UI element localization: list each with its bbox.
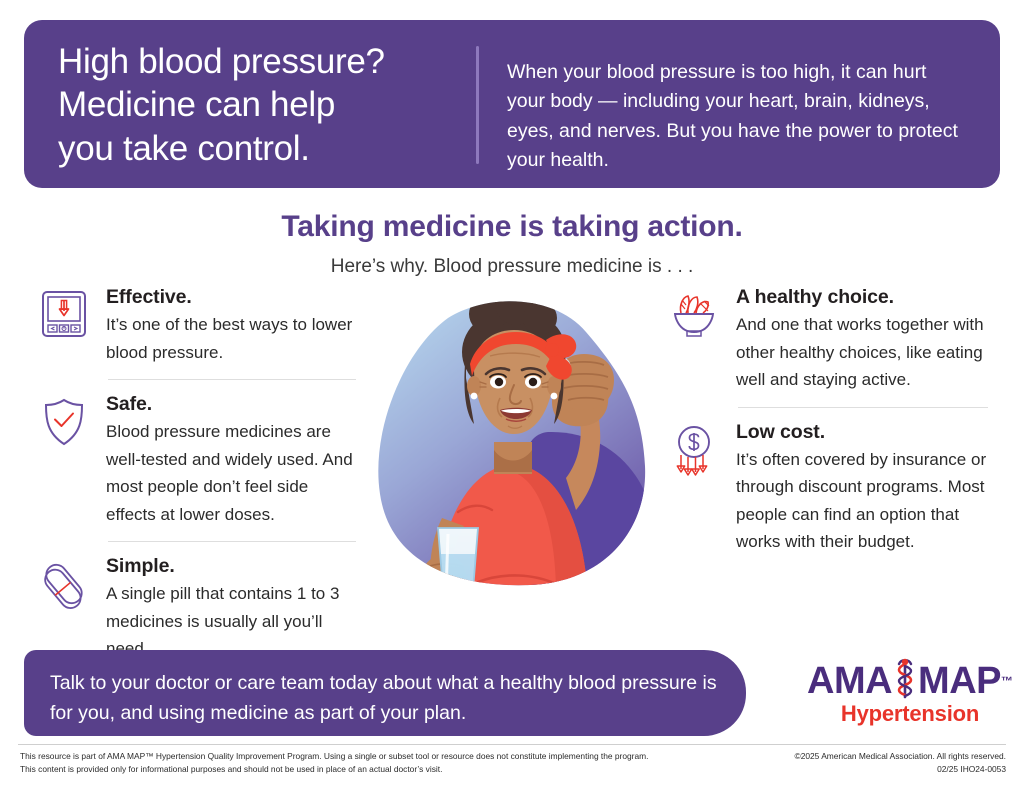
- caduceus-icon: [890, 657, 920, 706]
- hero-title-line-3: you take control.: [58, 127, 476, 170]
- feature-safe: Safe. Blood pressure medicines are well-…: [36, 393, 356, 528]
- feature-description: It’s often covered by insurance or throu…: [736, 446, 988, 556]
- ama-map-logo: AMA MAP ™ Hypertension: [806, 660, 1014, 736]
- infographic-page: High blood pressure? Medicine can help y…: [0, 0, 1024, 791]
- hero-left: High blood pressure? Medicine can help y…: [24, 20, 476, 188]
- feature-text: Low cost. It’s often covered by insuranc…: [722, 421, 988, 556]
- logo-wordmark-row: AMA MAP ™: [806, 660, 1014, 702]
- fine-print-divider: [18, 744, 1006, 745]
- fine-print-left-line-1: This resource is part of AMA MAP™ Hypert…: [20, 750, 700, 763]
- fine-print-left: This resource is part of AMA MAP™ Hypert…: [20, 750, 700, 776]
- feature-text: Simple. A single pill that contains 1 to…: [92, 555, 356, 663]
- feature-title: Effective.: [106, 286, 356, 309]
- hero-banner: High blood pressure? Medicine can help y…: [24, 20, 1000, 188]
- logo-word-ama: AMA: [807, 660, 892, 703]
- salad-bowl-icon: [666, 286, 722, 344]
- copyright-line: ©2025 American Medical Association. All …: [706, 750, 1006, 763]
- feature-description: And one that works together with other h…: [736, 311, 988, 394]
- dollar-down-arrows-icon: [666, 421, 722, 479]
- feature-description: It’s one of the best ways to lower blood…: [106, 311, 356, 366]
- logo-word-map: MAP: [918, 660, 1001, 703]
- feature-text: Effective. It’s one of the best ways to …: [92, 286, 356, 366]
- cta-banner: Talk to your doctor or care team today a…: [24, 650, 746, 736]
- hero-title-line-1: High blood pressure?: [58, 40, 476, 83]
- document-code-line: 02/25 IHO24-0053: [706, 763, 1006, 776]
- trademark-symbol: ™: [1001, 674, 1013, 688]
- feature-text: A healthy choice. And one that works tog…: [722, 286, 988, 394]
- fine-print-right: ©2025 American Medical Association. All …: [706, 750, 1006, 776]
- feature-healthy-choice: A healthy choice. And one that works tog…: [666, 286, 988, 394]
- feature-low-cost: Low cost. It’s often covered by insuranc…: [666, 421, 988, 556]
- cta-text: Talk to your doctor or care team today a…: [50, 669, 718, 728]
- feature-text: Safe. Blood pressure medicines are well-…: [92, 393, 356, 528]
- fine-print-left-line-2: This content is provided only for inform…: [20, 763, 700, 776]
- shield-check-icon: [36, 393, 92, 451]
- logo-subtitle: Hypertension: [806, 701, 1014, 727]
- feature-title: Simple.: [106, 555, 356, 578]
- capsule-pill-icon: [36, 555, 92, 613]
- feature-title: Safe.: [106, 393, 356, 416]
- hero-body-text: When your blood pressure is too high, it…: [507, 58, 966, 175]
- hero-title: High blood pressure? Medicine can help y…: [58, 40, 476, 170]
- hero-right: When your blood pressure is too high, it…: [479, 20, 1000, 188]
- section-title: Taking medicine is taking action.: [0, 210, 1024, 244]
- feature-title: Low cost.: [736, 421, 988, 444]
- feature-divider: [108, 541, 356, 542]
- section-subtitle: Here’s why. Blood pressure medicine is .…: [0, 256, 1024, 278]
- feature-divider: [108, 379, 356, 380]
- feature-title: A healthy choice.: [736, 286, 988, 309]
- features-right-column: A healthy choice. And one that works tog…: [666, 286, 988, 556]
- feature-description: Blood pressure medicines are well-tested…: [106, 418, 356, 528]
- features-left-column: Effective. It’s one of the best ways to …: [36, 286, 356, 663]
- feature-divider: [738, 407, 988, 408]
- bp-monitor-down-arrow-icon: [36, 286, 92, 344]
- woman-taking-pill-illustration: [370, 282, 655, 632]
- feature-simple: Simple. A single pill that contains 1 to…: [36, 555, 356, 663]
- hero-title-line-2: Medicine can help: [58, 83, 476, 126]
- feature-effective: Effective. It’s one of the best ways to …: [36, 286, 356, 366]
